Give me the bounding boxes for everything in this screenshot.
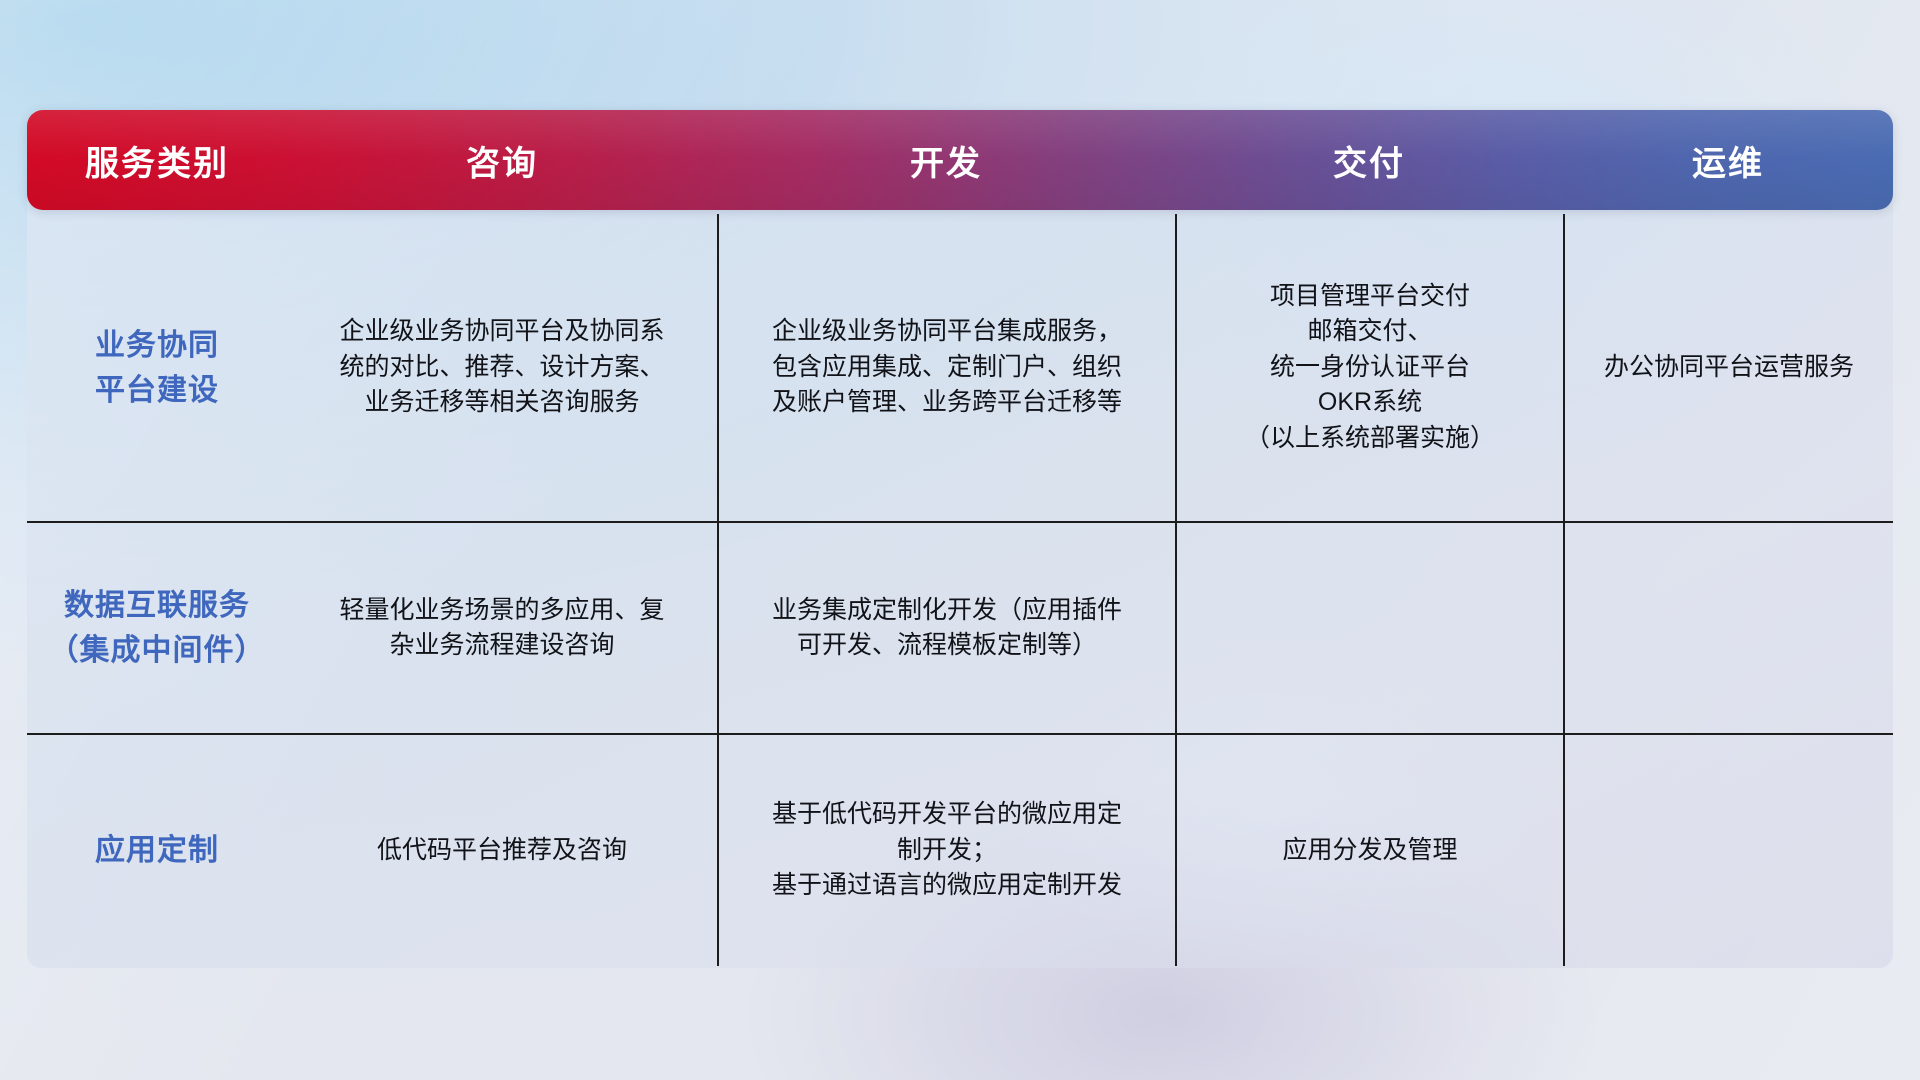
table-row: 应用定制 低代码平台推荐及咨询 基于低代码开发平台的微应用定 制开发； 基于通过… bbox=[27, 733, 1893, 966]
table-header-row: 服务类别 咨询 开发 交付 运维 bbox=[27, 110, 1893, 210]
table-row: 业务协同 平台建设 企业级业务协同平台及协同系 统的对比、推荐、设计方案、 业务… bbox=[27, 214, 1893, 521]
table-row: 数据互联服务 （集成中间件） 轻量化业务场景的多应用、复 杂业务流程建设咨询 业… bbox=[27, 521, 1893, 733]
cell-development: 基于低代码开发平台的微应用定 制开发； 基于通过语言的微应用定制开发 bbox=[717, 735, 1175, 966]
column-header-delivery: 交付 bbox=[1175, 136, 1563, 185]
table-body: 业务协同 平台建设 企业级业务协同平台及协同系 统的对比、推荐、设计方案、 业务… bbox=[27, 214, 1893, 966]
cell-operations bbox=[1563, 523, 1893, 733]
row-category-label: 应用定制 bbox=[27, 735, 287, 966]
cell-development: 业务集成定制化开发（应用插件 可开发、流程模板定制等） bbox=[717, 523, 1175, 733]
cell-development: 企业级业务协同平台集成服务， 包含应用集成、定制门户、组织 及账户管理、业务跨平… bbox=[717, 214, 1175, 521]
cell-consulting: 轻量化业务场景的多应用、复 杂业务流程建设咨询 bbox=[287, 523, 717, 733]
cell-consulting: 低代码平台推荐及咨询 bbox=[287, 735, 717, 966]
cell-operations: 办公协同平台运营服务 bbox=[1563, 214, 1893, 521]
cell-delivery bbox=[1175, 523, 1563, 733]
cell-delivery: 项目管理平台交付 邮箱交付、 统一身份认证平台 OKR系统 （以上系统部署实施） bbox=[1175, 214, 1563, 521]
service-matrix-table: 服务类别 咨询 开发 交付 运维 业务协同 平台建设 企业级业务协同平台及协同系… bbox=[27, 110, 1893, 968]
cell-operations bbox=[1563, 735, 1893, 966]
column-header-category: 服务类别 bbox=[27, 136, 287, 185]
row-category-label: 业务协同 平台建设 bbox=[27, 214, 287, 521]
column-header-consulting: 咨询 bbox=[287, 136, 717, 185]
row-category-label: 数据互联服务 （集成中间件） bbox=[27, 523, 287, 733]
column-header-operations: 运维 bbox=[1563, 136, 1893, 185]
column-header-development: 开发 bbox=[717, 136, 1175, 185]
cell-delivery: 应用分发及管理 bbox=[1175, 735, 1563, 966]
cell-consulting: 企业级业务协同平台及协同系 统的对比、推荐、设计方案、 业务迁移等相关咨询服务 bbox=[287, 214, 717, 521]
